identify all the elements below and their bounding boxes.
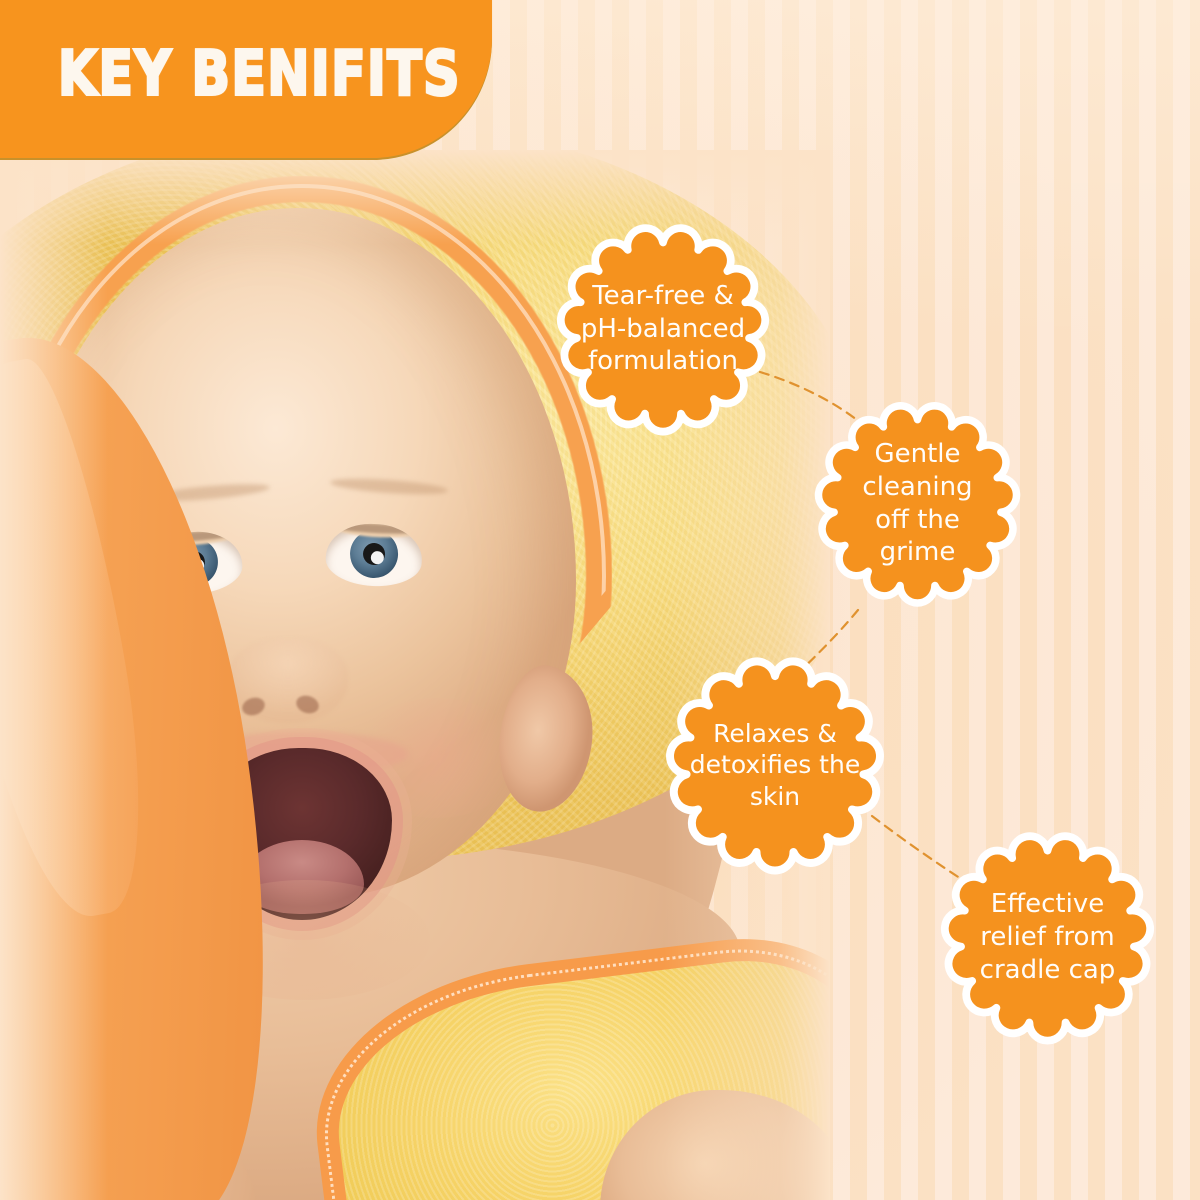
- key-benefits-poster: KEY BENIFITS Tear-free & pH-balanced for…: [0, 0, 1200, 1200]
- benefit-badge-label: Effective relief from cradle cap: [936, 826, 1159, 1049]
- benefit-badge-cradle-cap[interactable]: Effective relief from cradle cap: [936, 826, 1159, 1049]
- header-banner: KEY BENIFITS: [0, 0, 492, 158]
- benefit-badge-gentle-cleaning[interactable]: Gentle cleaning off the grime: [810, 396, 1025, 611]
- page-title: KEY BENIFITS: [58, 44, 461, 105]
- benefit-badge-label: Tear-free & pH-balanced formulation: [552, 218, 774, 440]
- benefit-badge-relaxes-detoxifies[interactable]: Relaxes & detoxifies the skin: [661, 651, 889, 879]
- benefit-badge-tear-free[interactable]: Tear-free & pH-balanced formulation: [552, 218, 774, 440]
- benefit-badge-label: Relaxes & detoxifies the skin: [661, 651, 889, 879]
- benefit-badge-label: Gentle cleaning off the grime: [810, 396, 1025, 611]
